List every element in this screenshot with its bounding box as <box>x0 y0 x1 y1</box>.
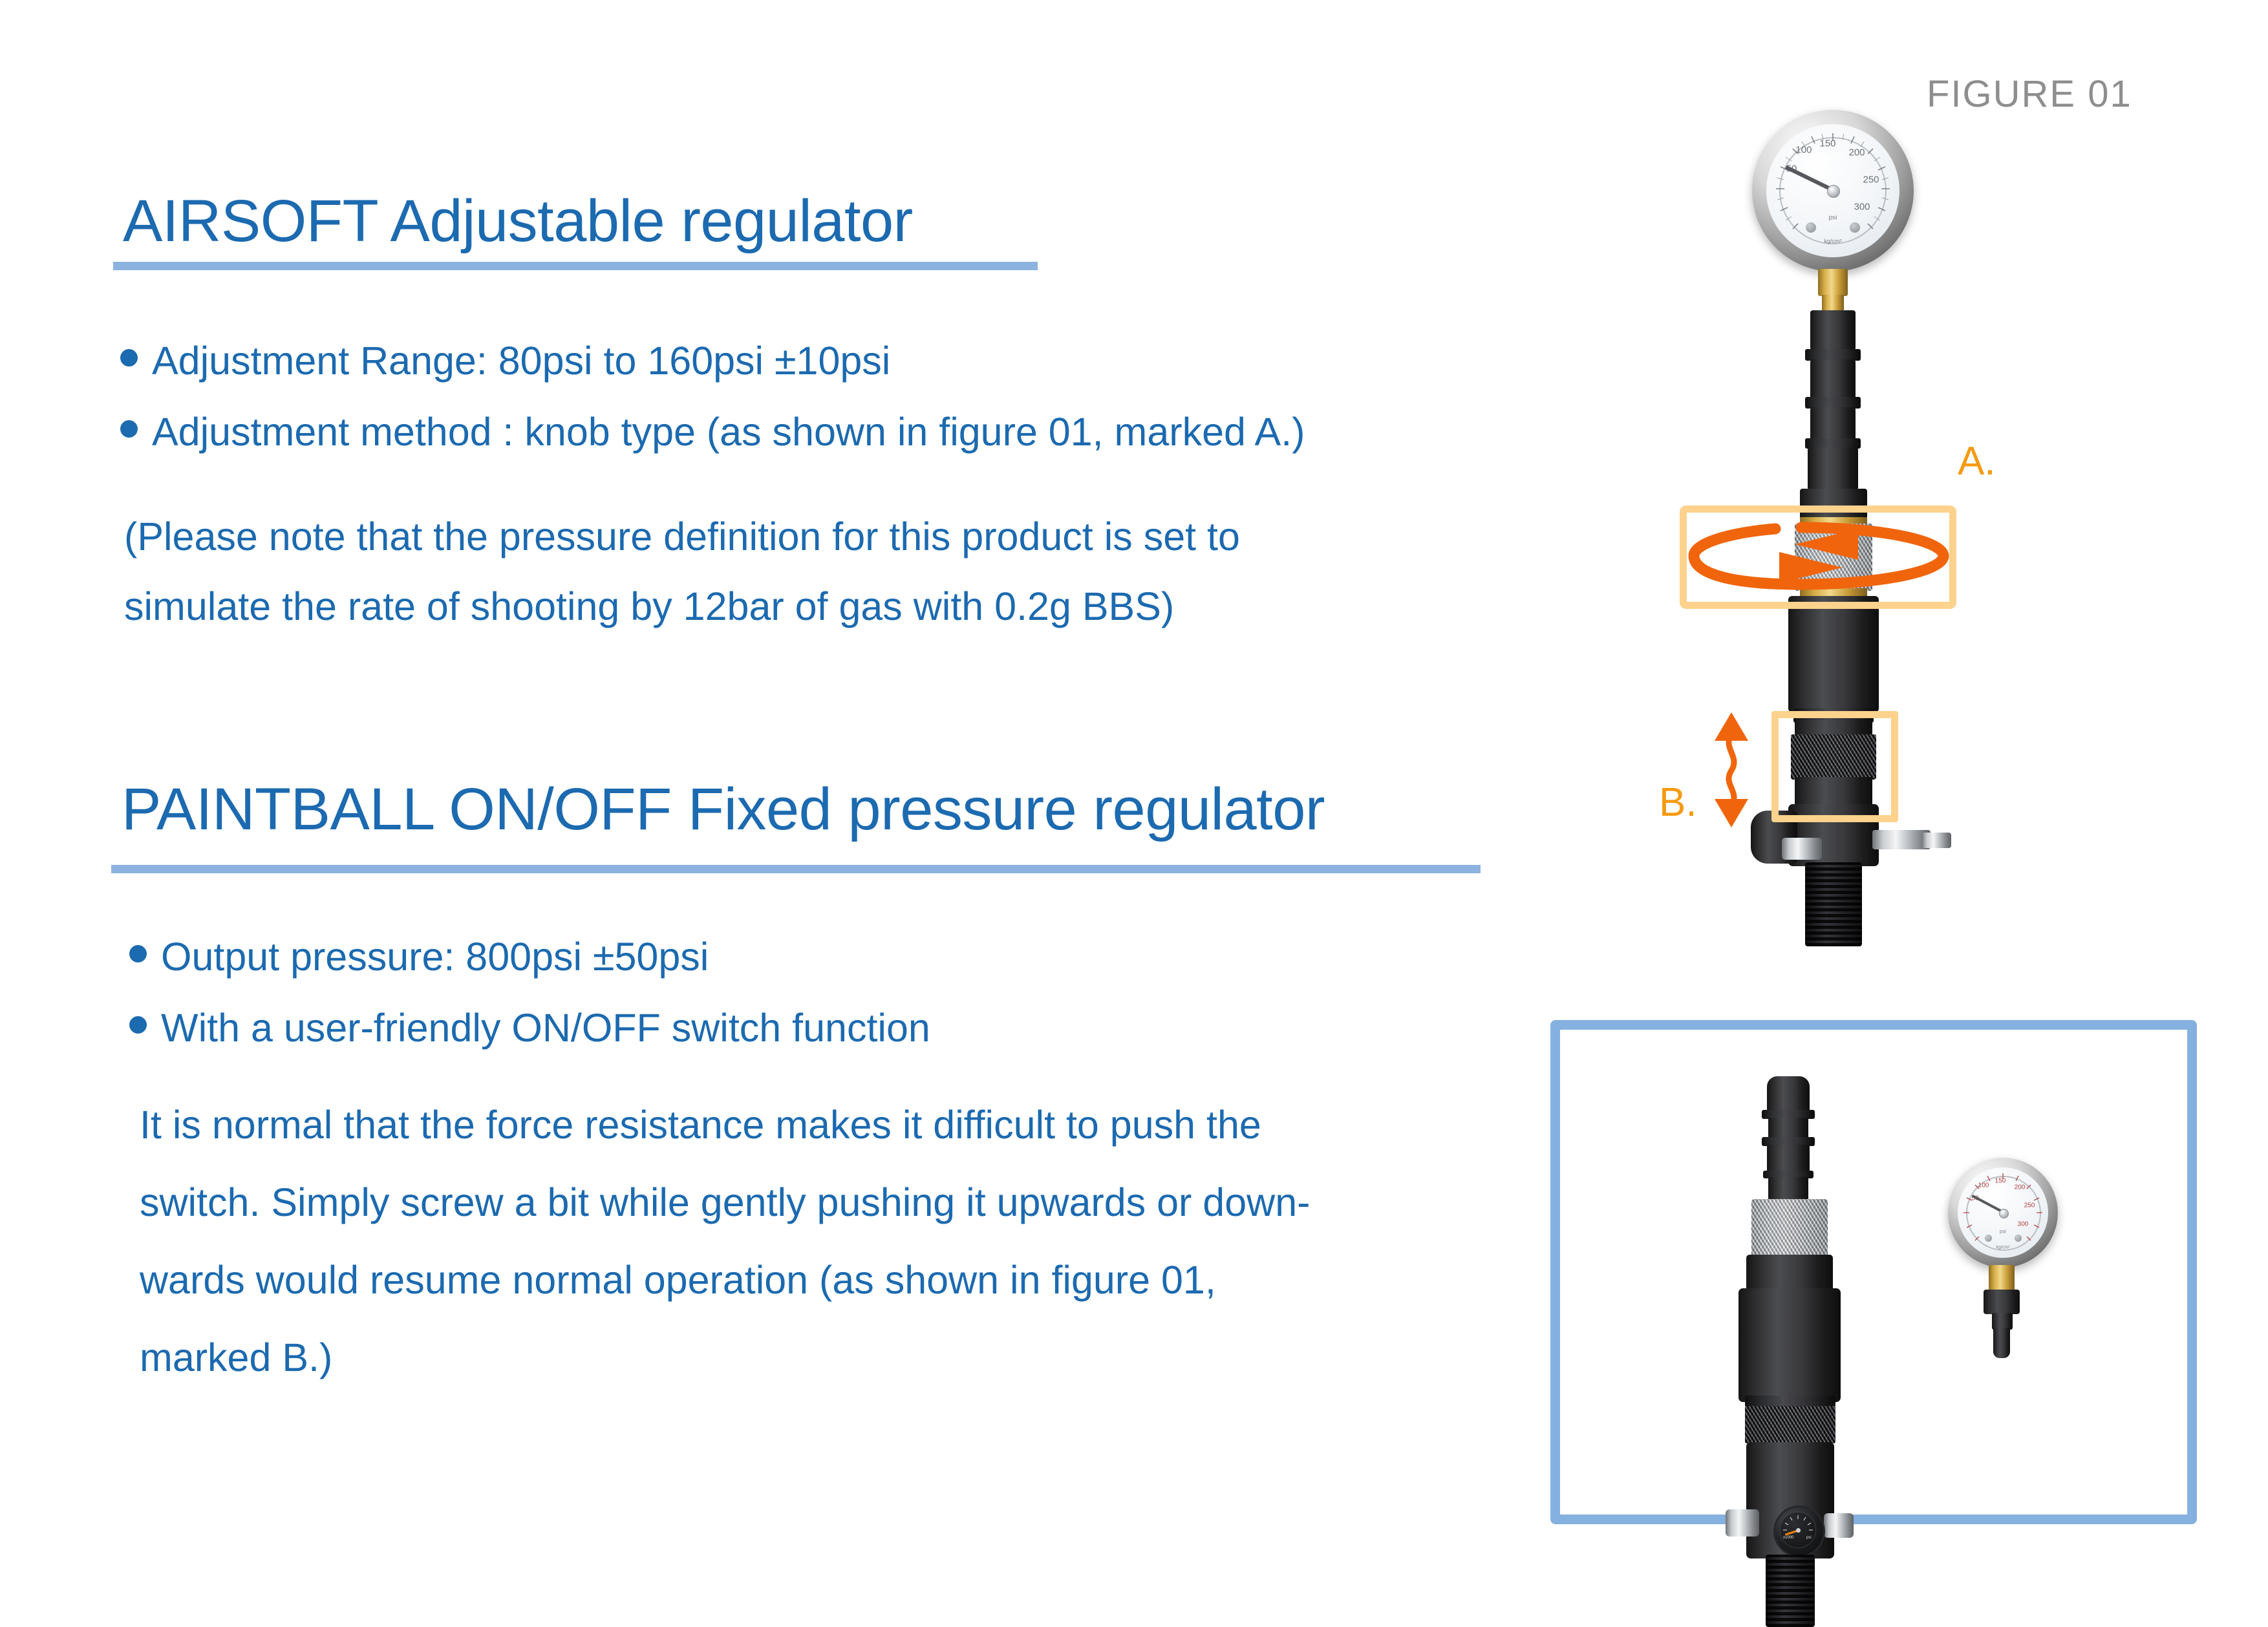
inset-gauge-brass-fitting <box>1989 1265 2015 1291</box>
gauge-needle-hub <box>1827 185 1840 198</box>
inset-gauge-number: 200 <box>2015 1184 2026 1191</box>
inset-body-upper <box>1746 1255 1833 1293</box>
bullet-label: Adjustment Range: 80psi to 160psi ±10psi <box>152 341 890 381</box>
chrome-bolt <box>1782 838 1822 860</box>
bullet-dot-icon <box>120 349 138 367</box>
bullet-label: With a user-friendly ON/OFF switch funct… <box>161 1008 930 1048</box>
pressure-gauge-dial: 50 100 150 200 250 300 psi kg/cm² <box>1766 124 1899 257</box>
section-heading-rule-paintball <box>111 865 1481 873</box>
gauge-unit-psi: psi <box>1829 215 1837 222</box>
inset-mini-gauge-scale-label: x1000 <box>1783 1536 1793 1540</box>
figure-label: FIGURE 01 <box>1927 72 2132 116</box>
inset-product-photo: x1000 psi <box>1560 1030 2187 1515</box>
bullet-airsoft-method: Adjustment method : knob type (as shown … <box>120 412 1305 452</box>
inset-gauge-number: 300 <box>2018 1221 2029 1228</box>
inset-pressure-gauge-dial: 50 100 150 200 250 300 psi kg/cm² <box>1958 1167 2048 1258</box>
stem-barrel-2 <box>1810 407 1856 441</box>
inset-on-off-switch-ring[interactable] <box>1745 1406 1835 1443</box>
inset-adjustment-knob[interactable] <box>1751 1199 1828 1257</box>
note-line-paintball-2: switch. Simply screw a bit while gently … <box>140 1183 1310 1222</box>
up-down-wavy-arrow-icon <box>1706 708 1757 831</box>
annotation-letter-b: B. <box>1659 780 1697 825</box>
gauge-number: 200 <box>1848 147 1865 158</box>
annotation-box-b <box>1771 711 1898 822</box>
inset-body-mid <box>1738 1288 1841 1402</box>
section-heading-rule-airsoft <box>113 262 1038 270</box>
annotation-letter-a: A. <box>1958 438 1996 484</box>
gauge-unit-kgcm2: kg/cm² <box>1824 238 1842 244</box>
bullet-paintball-output: Output pressure: 800psi ±50psi <box>129 937 709 977</box>
regulator-body-upper <box>1788 596 1879 712</box>
section-heading-airsoft: AIRSOFT Adjustable regulator <box>123 187 913 255</box>
inset-gauge-hose-neck <box>1992 1313 2013 1330</box>
note-line-paintball-4: marked B.) <box>140 1338 332 1377</box>
inset-gauge-hose-barb <box>1993 1328 2010 1358</box>
pressure-gauge-bezel: 50 100 150 200 250 300 psi kg/cm² <box>1752 110 1914 271</box>
inset-gauge-screw-right <box>2015 1235 2022 1242</box>
bullet-label: Adjustment method : knob type (as shown … <box>152 412 1305 452</box>
note-line-airsoft-1: (Please note that the pressure definitio… <box>124 517 1240 557</box>
product-photo-main: 50 100 150 200 250 300 psi kg/cm² <box>1655 110 2056 963</box>
inset-mini-gauge-dial: x1000 psi <box>1780 1512 1816 1548</box>
bullet-airsoft-range: Adjustment Range: 80psi to 160psi ±10psi <box>120 341 890 381</box>
inset-threaded-base <box>1766 1555 1815 1627</box>
gauge-number: 100 <box>1795 145 1812 156</box>
gauge-screw-right <box>1850 222 1860 233</box>
inset-pressure-gauge-bezel: 50 100 150 200 250 300 psi kg/cm² <box>1948 1158 2058 1268</box>
inset-gauge-number: 100 <box>1978 1182 1989 1189</box>
hose-barb-tip <box>1921 833 1951 848</box>
note-line-airsoft-2: simulate the rate of shooting by 12bar o… <box>124 587 1174 626</box>
inset-photo-frame: x1000 psi <box>1550 1020 2197 1524</box>
inset-gauge-screw-left <box>1985 1235 1992 1242</box>
inset-mini-gauge-unit: psi <box>1806 1536 1812 1540</box>
inset-chrome-bolt-right <box>1824 1513 1854 1538</box>
inset-gauge-unit-kgcm2: kg/cm² <box>1996 1246 2010 1250</box>
inset-hex-nut <box>1767 1145 1810 1173</box>
inset-quick-disconnect-top <box>1767 1076 1810 1112</box>
bullet-dot-icon <box>120 420 138 438</box>
bullet-label: Output pressure: 800psi ±50psi <box>161 937 709 977</box>
inset-gauge-needle-hub <box>1999 1209 2009 1218</box>
inset-gauge-number: 150 <box>1995 1178 2006 1185</box>
note-line-paintball-1: It is normal that the force resistance m… <box>140 1105 1261 1145</box>
rotate-arrow-icon <box>1685 511 1952 608</box>
stem-barrel-1 <box>1810 359 1856 399</box>
hex-nut-lower <box>1808 447 1858 490</box>
gauge-number: 300 <box>1854 202 1870 213</box>
hex-nut-upper <box>1810 310 1856 350</box>
gauge-screw-left <box>1806 222 1816 233</box>
section-heading-paintball: PAINTBALL ON/OFF Fixed pressure regulato… <box>122 776 1325 844</box>
inset-gauge-unit-psi: psi <box>2000 1229 2006 1235</box>
text-content-column: AIRSOFT Adjustable regulator Adjustment … <box>0 0 1539 1603</box>
threaded-base-stem <box>1805 862 1862 946</box>
gauge-number: 150 <box>1819 138 1835 149</box>
inset-gauge-black-nut <box>1984 1290 2020 1314</box>
bullet-dot-icon <box>129 1016 147 1034</box>
note-line-paintball-3: wards would resume normal operation (as … <box>140 1260 1216 1300</box>
inset-mini-gauge: x1000 psi <box>1773 1505 1825 1557</box>
bullet-dot-icon <box>129 945 147 962</box>
inset-stem-barrel <box>1768 1177 1808 1200</box>
inset-qd-barrel <box>1768 1118 1808 1140</box>
brass-fitting-under-gauge <box>1818 269 1848 296</box>
inset-chrome-bolt-left <box>1726 1509 1759 1537</box>
brass-fitting-neck <box>1822 295 1844 312</box>
inset-gauge-number: 250 <box>2024 1202 2035 1209</box>
inset-mini-gauge-hub <box>1796 1528 1801 1533</box>
bullet-paintball-switch: With a user-friendly ON/OFF switch funct… <box>129 1008 930 1048</box>
gauge-number: 250 <box>1863 175 1879 186</box>
